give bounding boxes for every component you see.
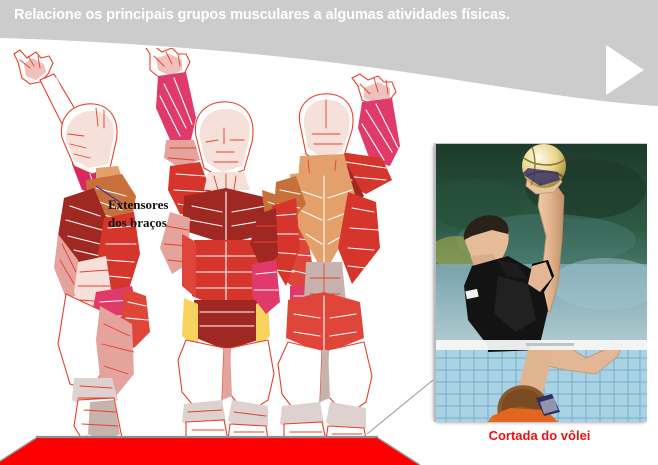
figure-side-view — [14, 50, 150, 440]
slide-canvas: Relacione os principais grupos musculare… — [0, 0, 658, 465]
feedback-platform: Resposta errada — [0, 424, 430, 465]
muscle-group-callout: Extensores dos braços — [108, 196, 168, 231]
photo-caption: Cortada do vôlei — [434, 428, 645, 443]
callout-line-2: dos braços — [108, 214, 168, 232]
page-title: Relacione os principais grupos musculare… — [14, 7, 654, 23]
volleyball-spike-photo — [434, 143, 647, 422]
callout-line-1: Extensores — [108, 197, 168, 212]
